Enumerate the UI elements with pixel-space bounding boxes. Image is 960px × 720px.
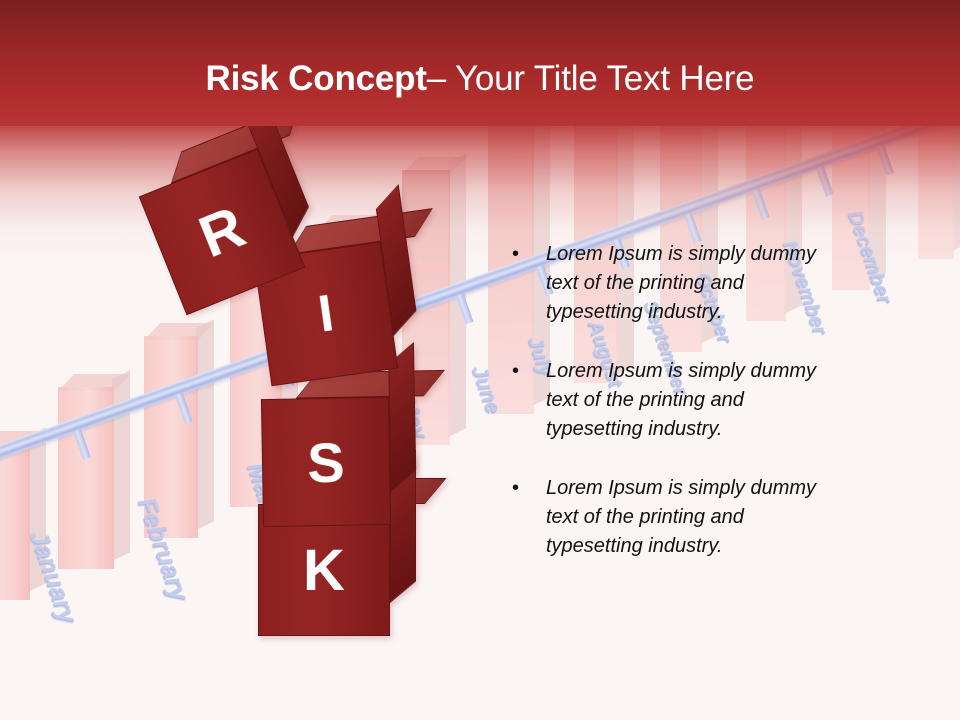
cube-s: S [261,397,391,527]
list-item: • Lorem Ipsum is simply dummy text of th… [512,474,842,561]
bullet-marker-icon: • [512,357,546,444]
bar-side-face [196,319,214,530]
bullet-text: Lorem Ipsum is simply dummy text of the … [546,357,842,444]
bar-front-face [0,444,30,600]
bullet-text: Lorem Ipsum is simply dummy text of the … [546,474,842,561]
cube-letter: I [315,283,338,344]
bullet-marker-icon: • [512,474,546,561]
slide-header-bar: Risk Concept – Your Title Text Here [0,0,960,126]
cube-front-face: S [261,397,391,527]
page-title: Risk Concept – Your Title Text Here [0,0,960,126]
bullet-text: Lorem Ipsum is simply dummy text of the … [546,240,842,327]
bar-chart-bar [0,444,30,600]
bullet-list: • Lorem Ipsum is simply dummy text of th… [512,240,842,591]
axis-tick [816,166,834,197]
list-item: • Lorem Ipsum is simply dummy text of th… [512,357,842,444]
cube-letter: K [303,537,345,604]
slide-canvas: JanuaryFebruaryMarchAprilMayJuneJulyAugu… [0,0,960,720]
page-title-rest: – Your Title Text Here [427,59,755,99]
cube-letter: S [307,429,345,495]
list-item: • Lorem Ipsum is simply dummy text of th… [512,240,842,327]
cube-letter: R [190,193,254,271]
bullet-marker-icon: • [512,240,546,327]
page-title-strong: Risk Concept [206,59,427,99]
